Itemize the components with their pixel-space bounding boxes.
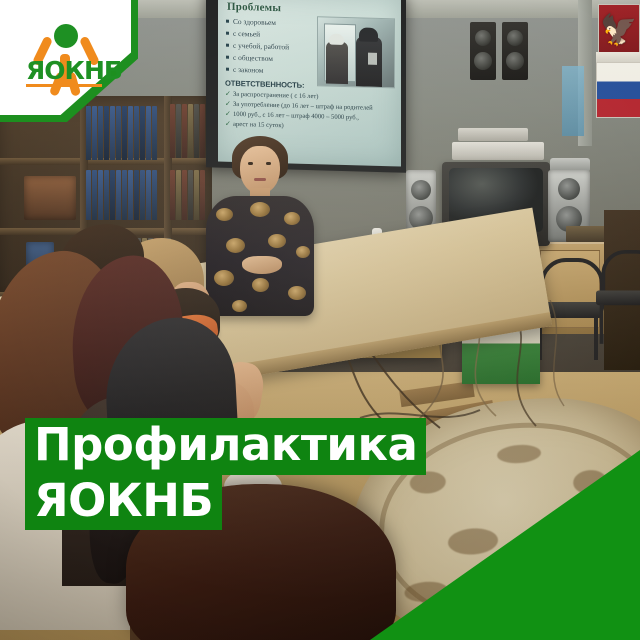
logo-underline — [26, 84, 102, 87]
headline-line-1: Профилактика — [25, 418, 426, 475]
headline-line-2: ЯОКНБ — [25, 474, 222, 531]
logo-letter-ya: Я — [26, 56, 44, 85]
poster-canvas: Проблемы Со здоровьем с семьей с учебой,… — [0, 0, 640, 640]
logo-wordmark: ЯОКНБ — [26, 58, 122, 83]
logo-word-oknb: ОКНБ — [44, 56, 122, 85]
headline-block: Профилактика ЯОКНБ — [25, 418, 426, 530]
